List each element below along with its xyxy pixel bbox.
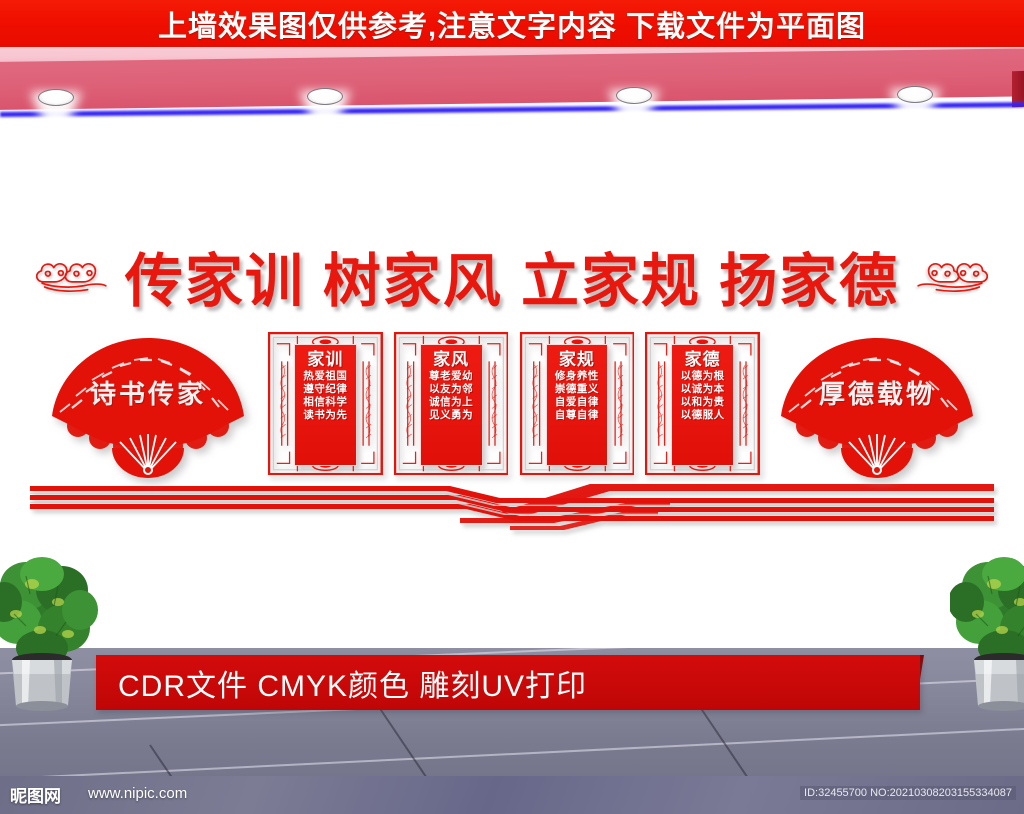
ceiling [0, 47, 1024, 122]
virtue-panel: 家训 热爱祖国 遵守纪律 相信科学 读书为先 [268, 332, 383, 478]
panel-line: 以友为邻 [429, 383, 473, 396]
panel-inner: 家规 修身养性 崇德重义 自爱自律 自尊自律 [546, 344, 609, 466]
fan-shape-right-icon [777, 330, 977, 480]
panel-inner: 家风 尊老爱幼 以友为邻 诚信为上 见义勇为 [420, 344, 483, 466]
virtue-panel: 家德 以德为根 以诚为本 以和为贵 以德服人 [645, 332, 760, 478]
floor-seam [0, 725, 1024, 782]
panel-line: 修身养性 [555, 370, 599, 383]
fan-plaque-right: 厚德载物 [777, 330, 977, 480]
panel-line: 尊老爱幼 [429, 370, 473, 383]
panel-group: 家训 热爱祖国 遵守纪律 相信科学 读书为先 [268, 332, 760, 478]
spotlight-1 [38, 89, 74, 106]
fan-plaque-left: 诗书传家 [48, 330, 248, 480]
panel-line: 自尊自律 [555, 409, 599, 422]
virtue-panel: 家规 修身养性 崇德重义 自爱自律 自尊自律 [520, 332, 635, 478]
panel-title: 家规 [559, 350, 595, 370]
panel-title: 家训 [307, 350, 343, 370]
panel-inner: 家德 以德为根 以诚为本 以和为贵 以德服人 [671, 344, 734, 466]
fan-shape-left-icon [48, 330, 248, 480]
potted-plant-right [950, 556, 1024, 714]
panel-line: 以和为贵 [681, 396, 725, 409]
panel-line: 热爱祖国 [303, 370, 347, 383]
panel-title: 家德 [685, 350, 721, 370]
headline-group: 传家训 树家风 立家规 扬家德 [0, 236, 1024, 316]
asset-id-tag: ID:32455700 NO:20210308203155334087 [800, 786, 1016, 800]
ribbon-divider [30, 482, 994, 542]
panel-title: 家风 [433, 350, 469, 370]
spec-bar: CDR文件 CMYK颜色 雕刻UV打印 [96, 655, 920, 710]
top-notice-text: 上墙效果图仅供参考,注意文字内容 下载文件为平面图 [158, 3, 866, 45]
site-logo: 昵图网 [10, 782, 61, 807]
panel-line: 以德服人 [681, 409, 725, 422]
panel-line: 以德为根 [681, 370, 725, 383]
cloud-ornament-right-icon [913, 253, 991, 299]
site-footer: 昵图网 www.nipic.com ID:32455700 NO:2021030… [0, 776, 1024, 814]
panel-line: 以诚为本 [681, 383, 725, 396]
poster-canvas: 上墙效果图仅供参考,注意文字内容 下载文件为平面图 [0, 0, 1024, 814]
virtue-panel: 家风 尊老爱幼 以友为邻 诚信为上 见义勇为 [394, 332, 509, 478]
panel-line: 读书为先 [303, 409, 347, 422]
panel-line: 自爱自律 [555, 396, 599, 409]
spec-bar-text: CDR文件 CMYK颜色 雕刻UV打印 [118, 661, 587, 705]
cloud-ornament-left-icon [33, 253, 111, 299]
panel-line: 诚信为上 [429, 396, 473, 409]
panel-line: 遵守纪律 [303, 383, 347, 396]
panel-line: 见义勇为 [429, 409, 473, 422]
spotlight-3 [616, 87, 652, 104]
spotlight-2 [307, 88, 343, 105]
panel-line: 相信科学 [303, 396, 347, 409]
page-title: 传家训 树家风 立家规 扬家德 [125, 234, 899, 318]
spotlight-4 [897, 86, 933, 103]
potted-plant-left [0, 556, 124, 714]
panel-line: 崇德重义 [555, 383, 599, 396]
panel-inner: 家训 热爱祖国 遵守纪律 相信科学 读书为先 [294, 344, 357, 466]
top-notice-banner: 上墙效果图仅供参考,注意文字内容 下载文件为平面图 [0, 0, 1024, 47]
site-url[interactable]: www.nipic.com [88, 785, 187, 802]
